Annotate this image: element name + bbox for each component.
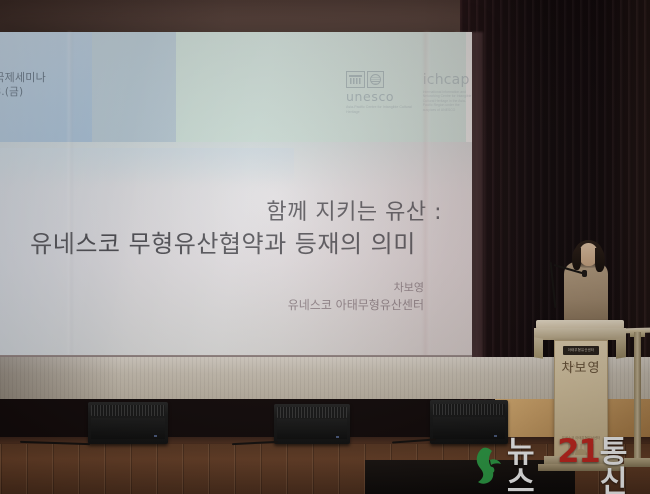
slide-header-line2: .28.(금): [0, 85, 46, 100]
lectern-shelf: [534, 328, 626, 340]
unesco-temple-icon: [346, 71, 365, 88]
monitor-grille: [91, 405, 165, 416]
screen-crease-right: [424, 32, 430, 357]
stage-monitor: [88, 402, 168, 444]
monitor-led-icon: [336, 436, 339, 438]
unesco-subtitle: Asia-Pacific Centre for Intangible Cultu…: [346, 105, 417, 114]
news-watermark-text: 뉴스 21 통신 news21tongsin: [507, 436, 650, 494]
monitor-led-icon: [154, 435, 157, 437]
news-watermark: 뉴스 21 통신 news21tongsin: [470, 436, 650, 494]
banner-cap: 아태무형유산센터: [563, 346, 599, 355]
microphone-stand: [550, 262, 557, 308]
slide-header-line1: 담국제세미나: [0, 70, 46, 85]
unesco-wordmark: unesco: [346, 89, 394, 104]
slide-speaker-name: 차보영: [0, 280, 424, 296]
speaker-hair-left: [572, 248, 581, 270]
watermark-korean-1: 뉴스: [507, 438, 557, 494]
projection-screen: 담국제세미나 .28.(금) unesco Asia-Pacific Centr…: [0, 32, 472, 357]
stage-back-wall-shadow: [0, 357, 120, 399]
unesco-globe-icon: [367, 71, 384, 88]
slide-byline: 차보영 유네스코 아태무형유산센터: [0, 280, 424, 314]
screen-crease-left: [68, 32, 72, 357]
unesco-marks: [346, 71, 384, 88]
ichcap-subtitle: International Information and Networking…: [423, 90, 472, 112]
stage-monitor: [274, 404, 350, 444]
lectern-side-right: [616, 337, 626, 359]
lectern-side-left: [534, 337, 543, 359]
korea-peninsula-icon: [470, 446, 504, 488]
microphone-icon: [582, 270, 587, 277]
slide-logos: unesco Asia-Pacific Centre for Intangibl…: [346, 71, 472, 114]
banner-speaker-name: 차보영: [555, 361, 607, 376]
banner-cap-text: 아태무형유산센터: [563, 346, 599, 355]
speaker-hair-right: [595, 248, 605, 272]
slide-speaker-affiliation: 유네스코 아태무형유산센터: [0, 296, 424, 314]
unesco-logo: unesco Asia-Pacific Centre for Intangibl…: [346, 71, 417, 114]
watermark-number: 21: [557, 436, 600, 466]
monitor-grille: [277, 407, 347, 417]
watermark-korean-2: 통신: [600, 438, 650, 494]
monitor-grille: [433, 404, 505, 415]
ichcap-wordmark: ichcap: [423, 72, 472, 88]
ichcap-logo: ichcap International Information and Net…: [423, 71, 472, 112]
seminar-photo-scene: 담국제세미나 .28.(금) unesco Asia-Pacific Centr…: [0, 0, 650, 494]
slide-header: 담국제세미나 .28.(금): [0, 70, 46, 100]
slide-soft-band: [0, 148, 294, 184]
